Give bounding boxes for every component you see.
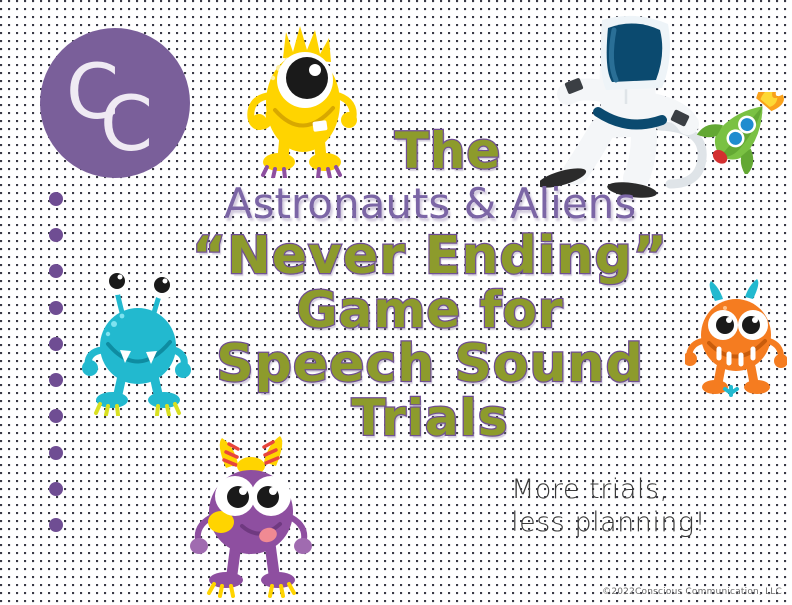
decor-dot [49,192,63,206]
copyright-notice: ©2022Conscious Communication, LLC [602,587,782,597]
decor-dot [49,337,63,351]
tagline-line-1: More trials, [511,474,706,507]
poster-title: The Astronauts & Aliens “Never Ending” G… [150,126,710,444]
decor-dot [49,482,63,496]
decor-dot [49,301,63,315]
tagline: More trials, less planning! [511,474,706,540]
decor-dot [49,518,63,532]
title-line-astronauts-aliens: Astronauts & Aliens [150,183,710,226]
title-line-game-for: Game for [150,285,710,336]
tagline-line-2: less planning! [511,507,706,540]
decor-dot [49,228,63,242]
logo-letter-c-2: C [100,86,151,162]
decor-dot [49,373,63,387]
title-line-speech-sound: Speech Sound [150,338,710,391]
decor-dot [49,446,63,460]
decor-dot [49,264,63,278]
decor-dot [49,409,63,423]
purple-monster-icon [188,434,314,604]
decorative-dot-column [47,192,65,532]
title-line-never-ending: “Never Ending” [150,230,710,283]
title-line-trials: Trials [150,393,710,444]
title-line-the: The [186,126,710,177]
poster-page: C C [0,0,792,605]
